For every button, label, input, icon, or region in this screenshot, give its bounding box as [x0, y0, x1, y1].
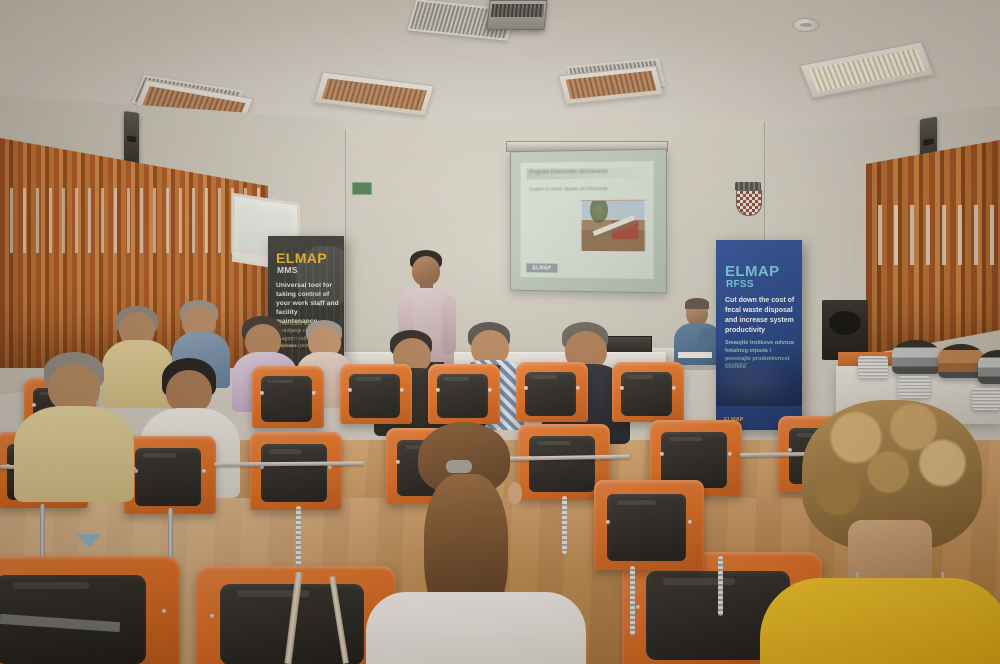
chair-leg	[40, 504, 45, 560]
projection-screen[interactable]: Program Elektronike zbrinjavanja Sustavi…	[510, 149, 667, 294]
papers-on-desk	[678, 352, 712, 358]
coat-shield	[736, 190, 762, 216]
audience-beige-head	[48, 364, 100, 412]
wall-speaker-left	[124, 111, 139, 169]
chair-tablet-pad	[135, 448, 201, 506]
chair-tablet-pad	[529, 436, 595, 492]
woman-ponytail-ear	[508, 482, 522, 504]
chair-tablet-pad	[261, 444, 327, 502]
plate-stack-1	[858, 356, 888, 378]
chair-tablet-pad	[261, 376, 313, 422]
ceiling-projector	[486, 0, 547, 30]
hair-tie	[446, 460, 472, 473]
banner-right-product: RFSS	[726, 279, 754, 290]
audience-beige-torso	[14, 406, 134, 502]
slide-photo	[581, 200, 645, 253]
chair-far-3[interactable]	[340, 364, 412, 424]
chair-tablet-pad	[525, 372, 577, 416]
blind-light-left	[0, 188, 268, 253]
chair-far-2[interactable]	[252, 366, 324, 428]
slide-subtitle: Sustavi za odvoz otpada i pročišćavanje	[529, 186, 608, 192]
chafing-dish-3	[978, 350, 1000, 384]
chair-mid-right-a[interactable]	[594, 480, 704, 570]
banner-right-headline: Cut down the cost of fecal waste disposa…	[725, 296, 797, 336]
banner-left-brand: ELMAP	[276, 251, 327, 265]
chair-far-4[interactable]	[428, 364, 500, 424]
chair-far-5[interactable]	[516, 362, 588, 422]
presenter-arm-right	[442, 296, 456, 354]
chair-tablet-pad	[607, 494, 686, 561]
coat-crown	[735, 182, 761, 190]
chair-leg	[296, 506, 301, 566]
chair-leg	[718, 556, 723, 616]
slide: Program Elektronike zbrinjavanja Sustavi…	[521, 161, 654, 279]
banner-right-photo	[716, 346, 802, 406]
floor-speaker	[822, 300, 868, 360]
slide-title: Program Elektronike zbrinjavanja	[529, 169, 607, 176]
banner-left-headline: Universal tool for taking control of you…	[276, 281, 340, 326]
slide-logo: ELMAP	[526, 263, 557, 272]
woman-ponytail-torso	[366, 592, 586, 664]
conference-room-photo: Program Elektronike zbrinjavanja Sustavi…	[0, 0, 1000, 664]
banner-right-brand: ELMAP	[725, 264, 780, 279]
chair-mid-3[interactable]	[250, 432, 342, 510]
croatian-coat-of-arms	[735, 182, 761, 216]
blinds-right[interactable]	[866, 140, 1000, 355]
banner-left-product: MMS	[277, 265, 298, 275]
chair-leg	[562, 496, 567, 554]
wall-corner-left	[345, 130, 346, 370]
chafing-dish-1	[892, 340, 940, 374]
elmap-rfss-banner: ELMAP RFSS Cut down the cost of fecal wa…	[716, 240, 802, 430]
chair-mid-2[interactable]	[124, 436, 216, 514]
chair-tablet-pad	[349, 374, 401, 418]
exit-sign	[352, 182, 372, 195]
chair-leg	[630, 566, 635, 636]
woman-blonde-torso	[760, 578, 1000, 664]
plate-stack-3	[972, 388, 1000, 410]
chair-front-1[interactable]	[0, 556, 180, 664]
plate-stack-2	[898, 376, 930, 398]
seated-official-hair	[685, 298, 709, 309]
chair-far-6[interactable]	[612, 362, 684, 422]
chair-tablet-pad	[621, 372, 673, 416]
chair-tablet-pad	[437, 374, 489, 418]
blind-light-right	[866, 205, 1000, 265]
ceiling-speaker-right	[792, 18, 820, 32]
